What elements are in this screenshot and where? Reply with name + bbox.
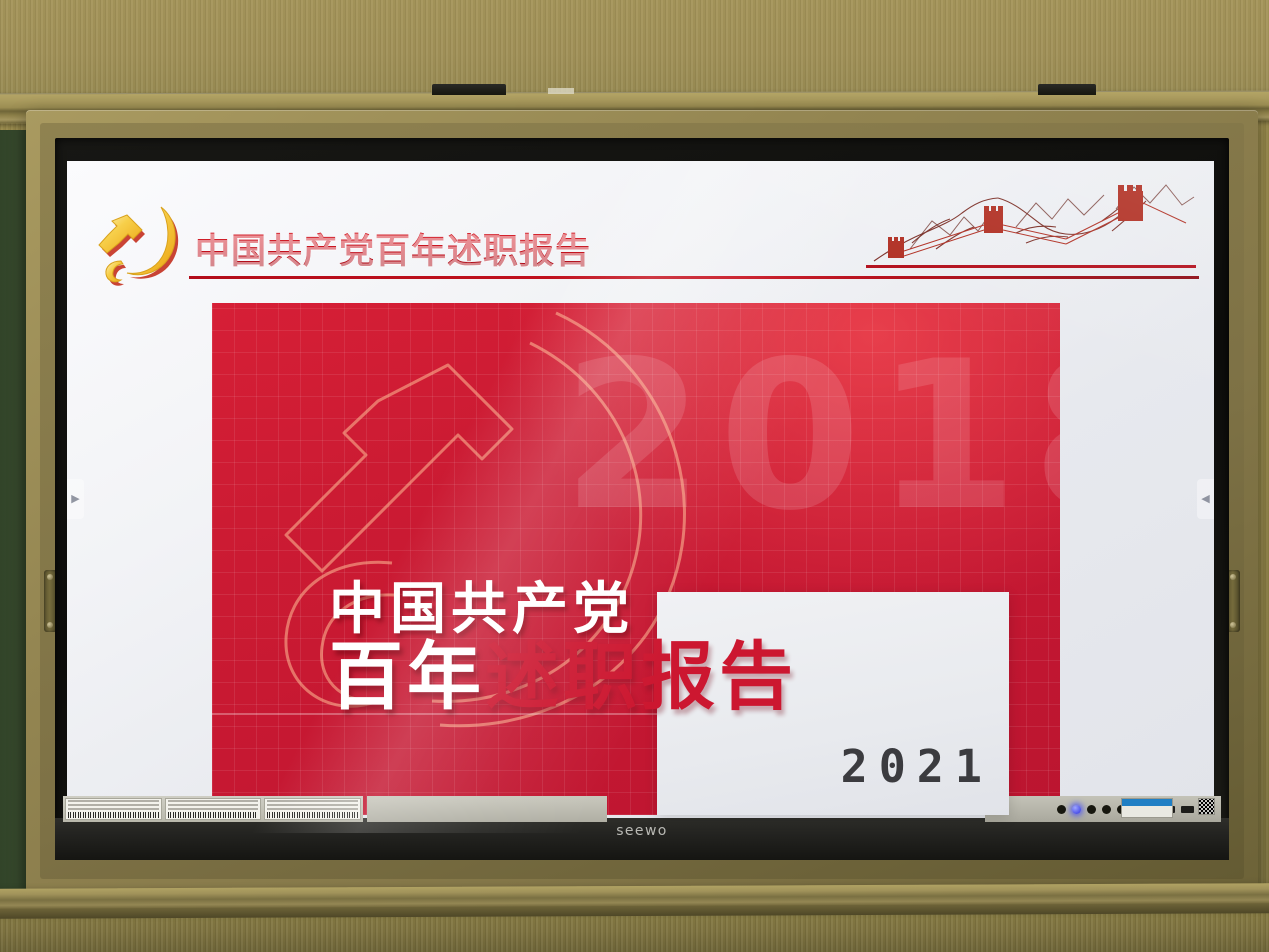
power-led-indicator xyxy=(1072,805,1081,814)
label-line xyxy=(267,804,358,806)
headline-line-1: 中国共产党 xyxy=(329,581,797,638)
latch-screw-top xyxy=(1230,574,1236,580)
control-button-2[interactable] xyxy=(1087,805,1096,814)
service-sticker xyxy=(1121,798,1173,818)
sticker-header-band xyxy=(1122,799,1172,806)
header-title: 中国共产党百年述职报告 xyxy=(195,223,591,274)
asset-label-3 xyxy=(264,798,361,820)
control-button-3[interactable] xyxy=(1102,805,1111,814)
slide-headline: 中国共产党 百年述职报告 xyxy=(329,581,797,714)
label-line xyxy=(267,800,358,802)
latch-screw-bottom xyxy=(1230,622,1236,628)
label-line xyxy=(168,804,259,806)
sticker-body xyxy=(1122,806,1172,817)
label-line xyxy=(68,808,159,810)
label-line xyxy=(168,800,259,802)
label-line xyxy=(68,804,159,806)
display-bezel: 中国共产党百年述职报告 xyxy=(55,138,1229,860)
rail-tag xyxy=(548,88,574,94)
bezel-metal-plate xyxy=(367,796,607,822)
asset-label-strip xyxy=(63,796,363,822)
headline-part-white: 百年 xyxy=(329,634,485,720)
label-line xyxy=(168,808,259,810)
display-bottom-bezel: seewo xyxy=(55,818,1229,860)
presentation-screen[interactable]: 中国共产党百年述职报告 xyxy=(67,161,1214,833)
party-emblem-hammer-sickle-icon xyxy=(97,203,189,289)
label-line xyxy=(267,808,358,810)
wall-upper-panel xyxy=(0,0,1269,96)
control-button-1[interactable] xyxy=(1057,805,1066,814)
barcode xyxy=(68,812,159,818)
rail-clip-right xyxy=(1038,84,1096,95)
brand-logo: seewo xyxy=(616,823,668,839)
asset-label-1 xyxy=(65,798,162,820)
sidebar-trigger-right[interactable]: ◀ xyxy=(1197,479,1214,519)
headline-line-2: 百年述职报告 xyxy=(329,640,797,714)
classroom-wall: 中国共产党百年述职报告 xyxy=(0,0,1269,952)
qr-code-icon xyxy=(1198,798,1215,815)
io-control-panel[interactable] xyxy=(985,796,1221,822)
slide-header: 中国共产党百年述职报告 xyxy=(67,161,1214,301)
label-line xyxy=(68,800,159,802)
title-year: 2021 xyxy=(841,740,993,793)
barcode xyxy=(267,812,358,818)
rail-clip-left xyxy=(432,84,506,95)
headline-part-red: 述职报告 xyxy=(485,634,797,720)
asset-label-2 xyxy=(165,798,262,820)
great-wall-illustration-icon xyxy=(866,173,1196,277)
latch-screw-bottom xyxy=(47,622,53,628)
latch-screw-top xyxy=(47,574,53,580)
usb-port-1[interactable] xyxy=(1181,806,1194,813)
sidebar-trigger-left[interactable]: ▶ xyxy=(67,479,84,519)
barcode xyxy=(168,812,259,818)
